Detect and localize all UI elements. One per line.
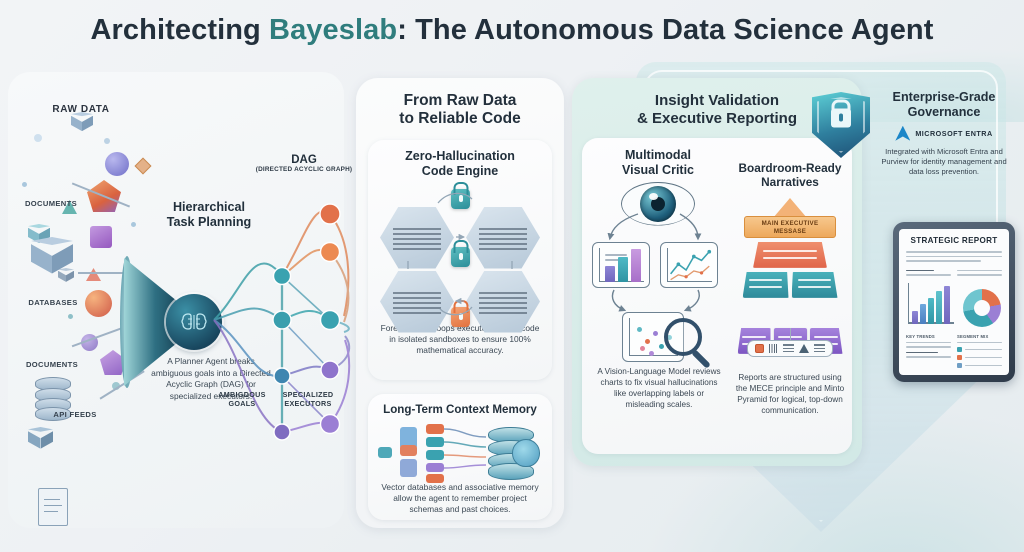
- memory-brain-icon: [512, 439, 540, 467]
- memory-chip: [400, 445, 417, 456]
- sphere-icon: [105, 152, 129, 176]
- report-donut-chart: [961, 289, 1002, 327]
- title-prefix: Architecting: [90, 14, 269, 46]
- documents-cube-icon: [31, 237, 73, 279]
- pyramid-main-message: MAIN EXECUTIVE MESSASE: [744, 216, 836, 238]
- pyramid-block: [743, 272, 789, 298]
- report-section-right: SEGMENT MIX: [957, 334, 1002, 339]
- mini-line-chart: [660, 242, 718, 288]
- long-term-memory-title: Long-Term Context Memory: [368, 394, 552, 417]
- mini-bar: [605, 266, 615, 282]
- security-shield-icon: [812, 92, 870, 158]
- visual-critic-body: A Vision-Language Model reviews charts t…: [586, 366, 732, 410]
- source-label-documents-2: DOCUMENTS: [12, 360, 92, 369]
- narratives-body: Reports are structured using the MECE pr…: [732, 372, 848, 416]
- decor-dot: [131, 222, 136, 227]
- governance-shield-wrapper: [812, 92, 872, 162]
- governance-block: Enterprise-Grade Governance MICROSOFT EN…: [868, 90, 1020, 177]
- governance-title: Enterprise-Grade Governance: [868, 90, 1020, 120]
- microsoft-entra-label: MICROSOFT ENTRA: [915, 129, 992, 138]
- cube-icon: [28, 427, 53, 452]
- mini-bar: [618, 257, 628, 282]
- visual-critic-title: Multimodal Visual Critic: [588, 146, 728, 178]
- visual-critic-block: Multimodal Visual Critic: [588, 146, 728, 222]
- reliable-code-panel: From Raw Data to Reliable Code Zero-Hall…: [356, 78, 564, 528]
- document-page-icon: [38, 488, 68, 526]
- report-bar-chart: [906, 283, 954, 327]
- memory-diagram: [368, 421, 552, 479]
- zero-hallucination-card: Zero-Hallucination Code Engine: [368, 140, 552, 380]
- source-label-documents-1: DOCUMENTS: [11, 199, 91, 208]
- donut-graphic: [963, 289, 1001, 327]
- pyramid-block: [792, 272, 838, 298]
- feed-arrow: [78, 272, 128, 274]
- report-section-left: KEY TRENDS: [906, 334, 951, 339]
- pyramid-row-3: [732, 272, 848, 298]
- lock-icon: [831, 109, 851, 128]
- memory-chip: [378, 447, 392, 458]
- tablet-screen: STRATEGIC REPORT: [899, 229, 1009, 375]
- microsoft-entra-icon: [895, 126, 910, 141]
- pyramid-block: [753, 242, 827, 268]
- dag-heading: DAG (DIRECTED ACYCLIC GRAPH): [244, 154, 364, 173]
- source-label-api-feeds: API FEEDS: [35, 410, 115, 419]
- toolbar-pyramid-icon[interactable]: [799, 344, 809, 353]
- insight-inner-card: Multimodal Visual Critic: [582, 138, 852, 454]
- mini-line-series: [661, 243, 717, 287]
- decor-dot: [68, 314, 73, 319]
- strategic-report-tablet: STRATEGIC REPORT: [893, 222, 1015, 382]
- title-brand: Bayeslab: [269, 14, 397, 46]
- memory-chip: [400, 459, 417, 477]
- decor-dot: [34, 134, 42, 142]
- toolbar-barcode-icon[interactable]: [769, 344, 778, 353]
- long-term-memory-card: Long-Term Context Memory: [368, 394, 552, 520]
- critic-arrows-top: [594, 212, 724, 242]
- toolbar-text-icon[interactable]: [814, 344, 825, 352]
- decor-dot: [22, 182, 27, 187]
- narratives-block: Boardroom-Ready Narratives MAIN EXECUTIV…: [732, 162, 848, 416]
- report-toolbar: [747, 340, 833, 357]
- critic-arrows-bottom: [594, 288, 724, 314]
- dag-footer-specialized-executors: SPECIALIZED EXECUTORS: [270, 390, 346, 409]
- sandbox-diagram: [368, 185, 552, 319]
- title-suffix: : The Autonomous Data Science Agent: [397, 14, 933, 46]
- code-panel-heading: From Raw Data to Reliable Code: [356, 78, 564, 129]
- narratives-title: Boardroom-Ready Narratives: [732, 162, 848, 190]
- toolbar-color-swatch[interactable]: [755, 344, 764, 353]
- microsoft-entra-badge: MICROSOFT ENTRA: [868, 126, 1020, 141]
- zero-hallucination-title: Zero-Hallucination Code Engine: [368, 140, 552, 179]
- sandbox-flow-arrows: [368, 185, 552, 319]
- minto-pyramid: MAIN EXECUTIVE MESSASE: [732, 198, 848, 376]
- pyramid-apex: [773, 198, 807, 218]
- source-label-databases: DATABASES: [13, 298, 93, 307]
- raw-data-panel: RAW DATA DOCUMENTS DATABASES DOCUMENTS A…: [8, 72, 344, 528]
- mini-bar-chart: [592, 242, 650, 288]
- diamond-icon: [135, 158, 152, 175]
- dag-graph: [204, 180, 354, 460]
- pyramid-row-2: [732, 242, 848, 268]
- governance-body: Integrated with Microsoft Entra and Purv…: [868, 147, 1020, 178]
- toolbar-list-icon[interactable]: [783, 344, 794, 352]
- page-title: Architecting Bayeslab: The Autonomous Da…: [0, 14, 1024, 47]
- report-title: STRATEGIC REPORT: [906, 236, 1002, 245]
- cube-icon: [71, 112, 93, 134]
- mini-bar: [631, 249, 641, 282]
- dag-footer-ambiguous-goals: AMBIGDOUS GOALS: [208, 390, 276, 409]
- decor-dot: [104, 138, 110, 144]
- triangle-icon: [86, 268, 101, 281]
- long-term-memory-body: Vector databases and associative memory …: [368, 482, 552, 516]
- square-icon: [90, 226, 112, 248]
- pyramid-connector: [790, 328, 791, 340]
